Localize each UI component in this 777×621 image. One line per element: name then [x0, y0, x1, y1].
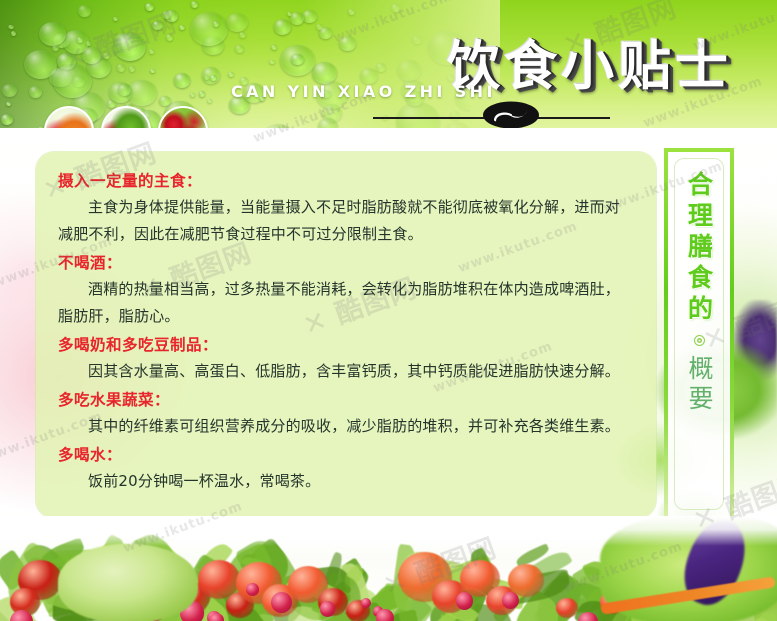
vegetable-border-image	[0, 516, 777, 621]
water-drop	[204, 75, 210, 80]
radish	[209, 613, 224, 621]
water-drop	[190, 12, 228, 46]
page-subtitle-pinyin: CAN YIN XIAO ZHI SHI	[231, 82, 496, 101]
strip-top-fade	[0, 516, 777, 546]
radish	[502, 592, 519, 609]
water-drop	[274, 19, 291, 34]
water-drop	[118, 84, 132, 96]
water-drop	[1, 114, 12, 124]
content-section: 多喝水：饭前20分钟喝一杯温水，常喝茶。	[58, 442, 634, 495]
vertical-topic-panel: 合理膳食的 概要	[664, 148, 734, 520]
water-drop	[199, 91, 205, 96]
radish	[320, 601, 336, 617]
section-heading: 摄入一定量的主食：	[58, 168, 634, 194]
section-body: 主食为身体提供能量，当能量摄入不足时脂肪酸就不能彻底被氧化分解，进而对减肥不利，…	[58, 194, 634, 248]
water-drop	[159, 96, 171, 107]
water-drop	[145, 3, 155, 11]
water-drop	[162, 11, 171, 19]
water-drop	[235, 45, 244, 53]
vertical-topic-title: 合理膳食的	[684, 171, 715, 326]
water-drop	[152, 21, 163, 30]
section-body: 因其含水量高、高蛋白、低脂肪，含丰富钙质，其中钙质能促进脂肪快速分解。	[58, 358, 634, 385]
water-drop	[269, 60, 274, 64]
water-drop	[117, 64, 125, 71]
water-drop	[11, 31, 17, 36]
cabbage-head	[58, 544, 198, 621]
water-drop	[190, 93, 195, 98]
radish	[578, 612, 598, 621]
section-heading: 多喝水：	[58, 442, 634, 468]
water-drop	[149, 49, 155, 54]
water-drop	[127, 80, 157, 106]
s-swoosh-logo-icon	[482, 99, 540, 131]
radish	[246, 583, 259, 596]
section-body: 酒精的热量相当高，过多热量不能消耗，会转化为脂肪堆积在体内造成啤酒肚，脂肪肝，脂…	[58, 276, 634, 330]
content-panel: 摄入一定量的主食：主食为身体提供能量，当能量摄入不足时脂肪酸就不能彻底被氧化分解…	[36, 152, 656, 518]
content-section: 多喝奶和多吃豆制品：因其含水量高、高蛋白、低脂肪，含丰富钙质，其中钙质能促进脂肪…	[58, 332, 634, 385]
water-drop	[150, 69, 155, 73]
water-drop	[129, 66, 135, 71]
vertical-topic-subtitle: 概要	[683, 355, 715, 415]
water-drop	[179, 25, 185, 30]
water-drop	[239, 32, 246, 38]
water-drop	[174, 73, 191, 88]
water-drop	[114, 33, 146, 61]
section-heading: 多吃水果蔬菜：	[58, 387, 634, 413]
section-body: 饭前20分钟喝一杯温水，常喝茶。	[58, 468, 634, 495]
water-drop	[213, 21, 219, 27]
water-drop	[8, 25, 13, 30]
poster-canvas: 饮食小贴士 CAN YIN XIAO ZHI SHI 摄入一定量的主食：主食为身…	[0, 0, 777, 621]
water-drop	[86, 41, 91, 46]
water-drop	[226, 13, 248, 32]
water-drop	[228, 72, 234, 77]
water-drop	[166, 34, 173, 41]
water-drop	[29, 86, 42, 98]
content-section: 多吃水果蔬菜：其中的纤维素可组织营养成分的吸收，减少脂肪的堆积，并可补充各类维生…	[58, 387, 634, 440]
water-drop	[52, 45, 59, 51]
water-drop	[113, 17, 118, 22]
vertical-topic-inner: 合理膳食的 概要	[674, 158, 724, 510]
water-drop	[271, 45, 277, 50]
section-heading: 多喝奶和多吃豆制品：	[58, 332, 634, 358]
content-section: 摄入一定量的主食：主食为身体提供能量，当能量摄入不足时脂肪酸就不能彻底被氧化分解…	[58, 168, 634, 248]
radish	[271, 592, 292, 613]
section-body: 其中的纤维素可组织营养成分的吸收，减少脂肪的堆积，并可补充各类维生素。	[58, 413, 634, 440]
radish	[376, 609, 394, 621]
water-drop	[6, 102, 12, 107]
content-section: 不喝酒：酒精的热量相当高，过多热量不能消耗，会转化为脂肪堆积在体内造成啤酒肚，脂…	[58, 250, 634, 330]
section-heading: 不喝酒：	[58, 250, 634, 276]
water-drop	[78, 5, 91, 17]
radish	[456, 592, 474, 610]
water-drop	[207, 99, 212, 103]
water-drop	[103, 53, 110, 59]
circle-dot-icon	[694, 335, 705, 346]
water-drop	[191, 1, 198, 7]
water-drop	[2, 84, 17, 97]
water-drop	[77, 37, 83, 42]
